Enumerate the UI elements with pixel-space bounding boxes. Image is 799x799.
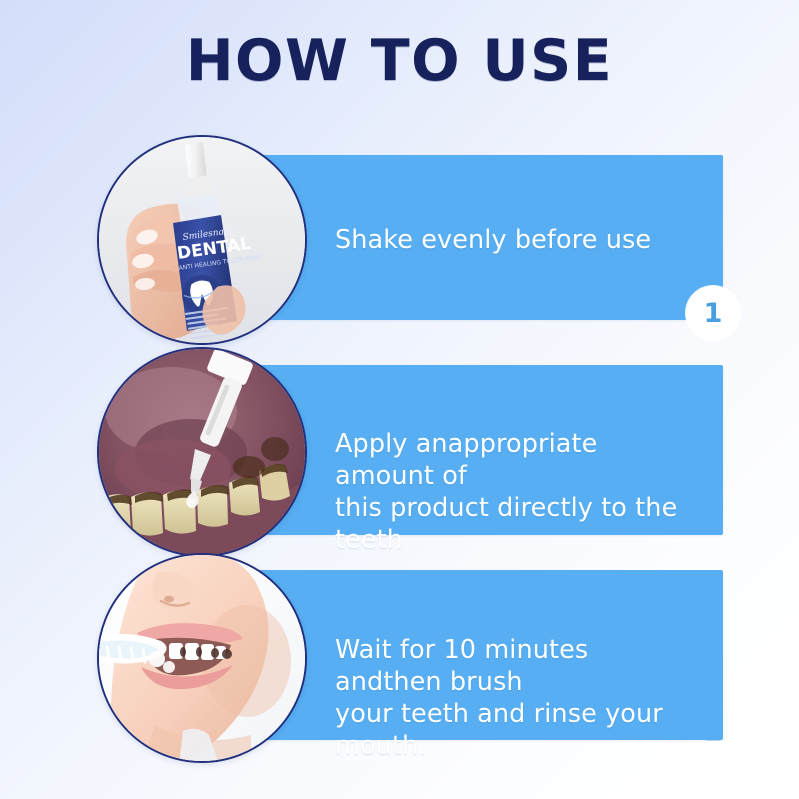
step-row-2: Apply anappropriate amount of this produ… xyxy=(0,345,799,555)
step-3-text: Wait for 10 minutes andthen brush your t… xyxy=(335,634,697,763)
how-to-use-poster: HOW TO USE Shake evenly before use xyxy=(0,0,799,799)
page-title: HOW TO USE xyxy=(0,32,799,92)
step-1-text: Shake evenly before use xyxy=(335,224,697,256)
step-2-text: Apply anappropriate amount of this produ… xyxy=(335,428,697,557)
step-2-text-line-2: this product directly to the teeth xyxy=(335,492,697,556)
step-row-1: Shake evenly before use xyxy=(0,133,799,343)
step-1-number-badge: 1 xyxy=(686,286,740,340)
step-row-3: Wait for 10 minutes andthen brush your t… xyxy=(0,551,799,761)
step-2-text-line-1: Apply anappropriate amount of xyxy=(335,428,697,492)
step-1-photo-hand-holding-dental-spray-bottle: Smilesnaps DENTAL ANTI HEALING TOOTH MIN… xyxy=(97,135,307,345)
step-3-photo-woman-brushing-teeth-with-toothbrush xyxy=(97,553,307,763)
step-2-photo-applicator-dispensing-onto-stained-teeth xyxy=(97,347,307,557)
step-1-text-line-1: Shake evenly before use xyxy=(335,224,697,256)
step-3-text-line-1: Wait for 10 minutes andthen brush xyxy=(335,634,697,698)
step-3-text-line-2: your teeth and rinse your mouth. xyxy=(335,698,697,762)
